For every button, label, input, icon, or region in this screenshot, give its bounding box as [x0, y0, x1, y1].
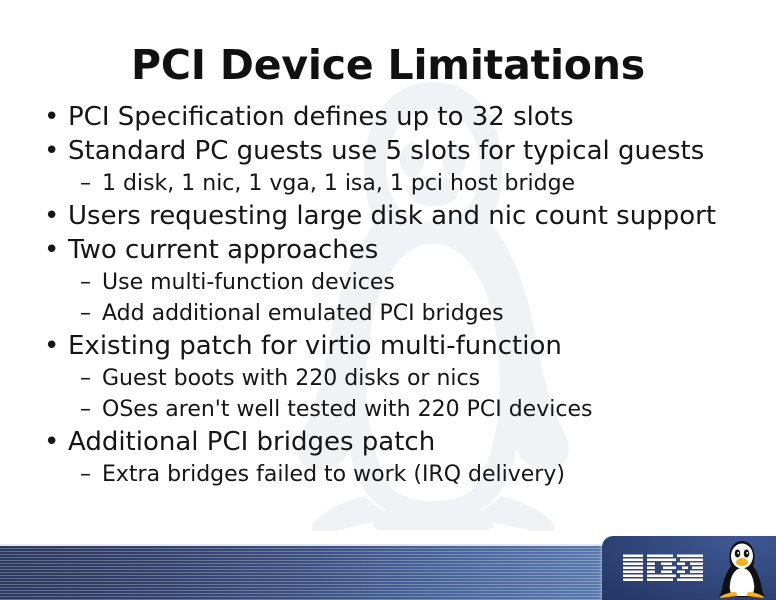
list-item: – OSes aren't well tested with 220 PCI d…: [0, 394, 776, 425]
dash-marker-icon: –: [80, 168, 102, 199]
list-item-text: PCI Specification defines up to 32 slots: [68, 100, 776, 134]
dash-marker-icon: –: [80, 298, 102, 329]
dash-marker-icon: –: [80, 267, 102, 298]
list-item: – Extra bridges failed to work (IRQ deli…: [0, 459, 776, 490]
bullet-marker-icon: •: [44, 329, 66, 363]
list-item-text: 1 disk, 1 nic, 1 vga, 1 isa, 1 pci host …: [102, 168, 776, 199]
list-item-text: Extra bridges failed to work (IRQ delive…: [102, 459, 776, 490]
slide: PCI Device Limitations • PCI Specificati…: [0, 0, 776, 600]
page-title: PCI Device Limitations: [0, 41, 776, 89]
bullet-marker-icon: •: [44, 134, 66, 168]
list-item: • Users requesting large disk and nic co…: [0, 199, 776, 233]
list-item-text: Guest boots with 220 disks or nics: [102, 363, 776, 394]
tux-penguin-icon: [714, 538, 770, 598]
ibm-logo-panel: [602, 536, 776, 600]
bullet-marker-icon: •: [44, 199, 66, 233]
dash-marker-icon: –: [80, 363, 102, 394]
list-item: – 1 disk, 1 nic, 1 vga, 1 isa, 1 pci hos…: [0, 168, 776, 199]
list-item-text: Existing patch for virtio multi-function: [68, 329, 776, 363]
list-item: – Use multi-function devices: [0, 267, 776, 298]
list-item: • Standard PC guests use 5 slots for typ…: [0, 134, 776, 168]
list-item: • PCI Specification defines up to 32 slo…: [0, 100, 776, 134]
bullet-marker-icon: •: [44, 425, 66, 459]
dash-marker-icon: –: [80, 394, 102, 425]
list-item-text: Standard PC guests use 5 slots for typic…: [68, 134, 776, 168]
list-item-text: OSes aren't well tested with 220 PCI dev…: [102, 394, 776, 425]
list-item-text: Use multi-function devices: [102, 267, 776, 298]
list-item: • Additional PCI bridges patch: [0, 425, 776, 459]
list-item: • Existing patch for virtio multi-functi…: [0, 329, 776, 363]
list-item: – Add additional emulated PCI bridges: [0, 298, 776, 329]
bullet-list: • PCI Specification defines up to 32 slo…: [0, 100, 776, 490]
bullet-marker-icon: •: [44, 100, 66, 134]
list-item-text: Users requesting large disk and nic coun…: [68, 199, 776, 233]
list-item-text: Two current approaches: [68, 233, 776, 267]
dash-marker-icon: –: [80, 459, 102, 490]
bullet-marker-icon: •: [44, 233, 66, 267]
list-item-text: Add additional emulated PCI bridges: [102, 298, 776, 329]
list-item: – Guest boots with 220 disks or nics: [0, 363, 776, 394]
ibm-logo-icon: [622, 554, 706, 584]
list-item-text: Additional PCI bridges patch: [68, 425, 776, 459]
list-item: • Two current approaches: [0, 233, 776, 267]
